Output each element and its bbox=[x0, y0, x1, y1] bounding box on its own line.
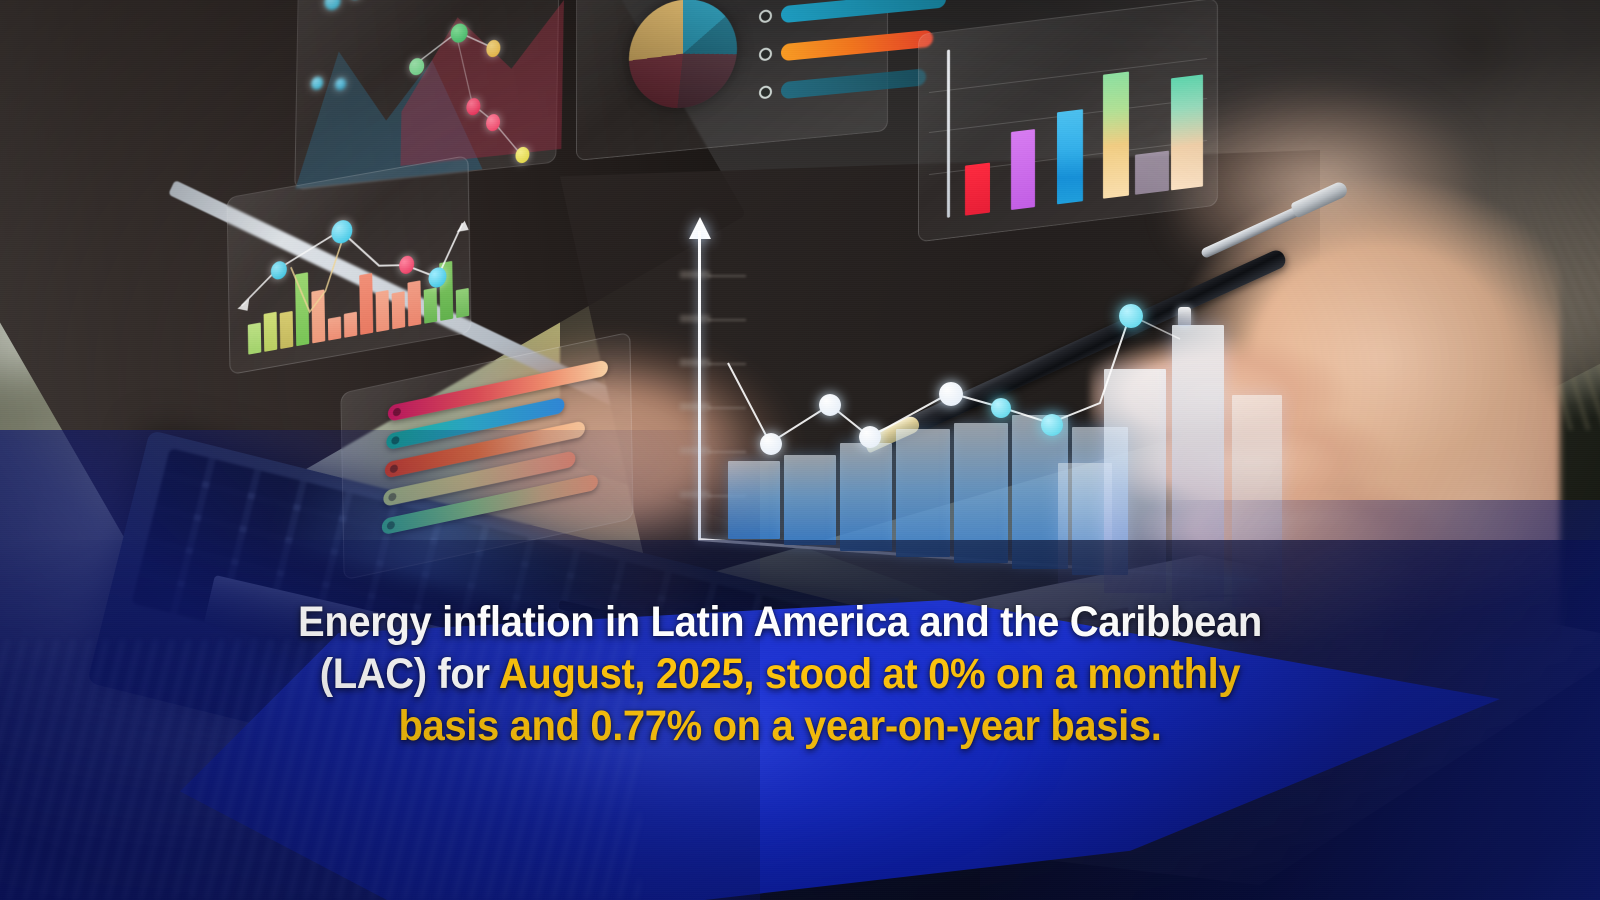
radio-ring-icon[interactable] bbox=[759, 9, 772, 23]
caption-overlay: Energy inflation in Latin America and th… bbox=[55, 596, 1506, 752]
bar-end-dot bbox=[393, 407, 401, 417]
y-axis bbox=[947, 50, 950, 218]
caption-line-2: (LAC) for August, 2025, stood at 0% on a… bbox=[55, 648, 1506, 700]
trend-marker-white bbox=[859, 426, 881, 448]
trend-marker-white bbox=[939, 382, 963, 406]
hologram-panel-vertical-bar-chart bbox=[918, 0, 1218, 242]
trend-marker-cyan bbox=[991, 398, 1011, 418]
caption-line-1: Energy inflation in Latin America and th… bbox=[55, 596, 1506, 648]
trend-marker-white bbox=[819, 394, 841, 416]
trend-marker-white bbox=[760, 433, 782, 455]
screenshot-canvas: Energy inflation in Latin America and th… bbox=[0, 0, 1600, 900]
caption-line-1-white: Energy inflation in Latin America and th… bbox=[298, 598, 1262, 646]
vertical-bar-muted-purple bbox=[1135, 151, 1169, 195]
vertical-bar-green-yellow bbox=[1103, 72, 1129, 199]
caption-line-3: basis and 0.77% on a year-on-year basis. bbox=[55, 700, 1506, 752]
gridline bbox=[929, 58, 1207, 93]
radio-ring-icon[interactable] bbox=[759, 85, 772, 99]
vertical-bar-red bbox=[965, 163, 990, 216]
caption-line-2-highlight: August, 2025, stood at 0% on a monthly bbox=[499, 650, 1240, 698]
caption-line-2-white: (LAC) for bbox=[320, 650, 499, 698]
pie-chart-shading bbox=[629, 0, 737, 113]
radio-ring-icon[interactable] bbox=[759, 47, 772, 61]
vertical-bar-teal-peach bbox=[1171, 74, 1203, 190]
vertical-bar-blue bbox=[1057, 109, 1083, 204]
trend-marker-cyan bbox=[1119, 304, 1143, 328]
caption-line-3-highlight: basis and 0.77% on a year-on-year basis. bbox=[398, 702, 1161, 750]
vertical-bar-purple bbox=[1011, 129, 1035, 210]
trend-marker-cyan bbox=[1041, 414, 1063, 436]
